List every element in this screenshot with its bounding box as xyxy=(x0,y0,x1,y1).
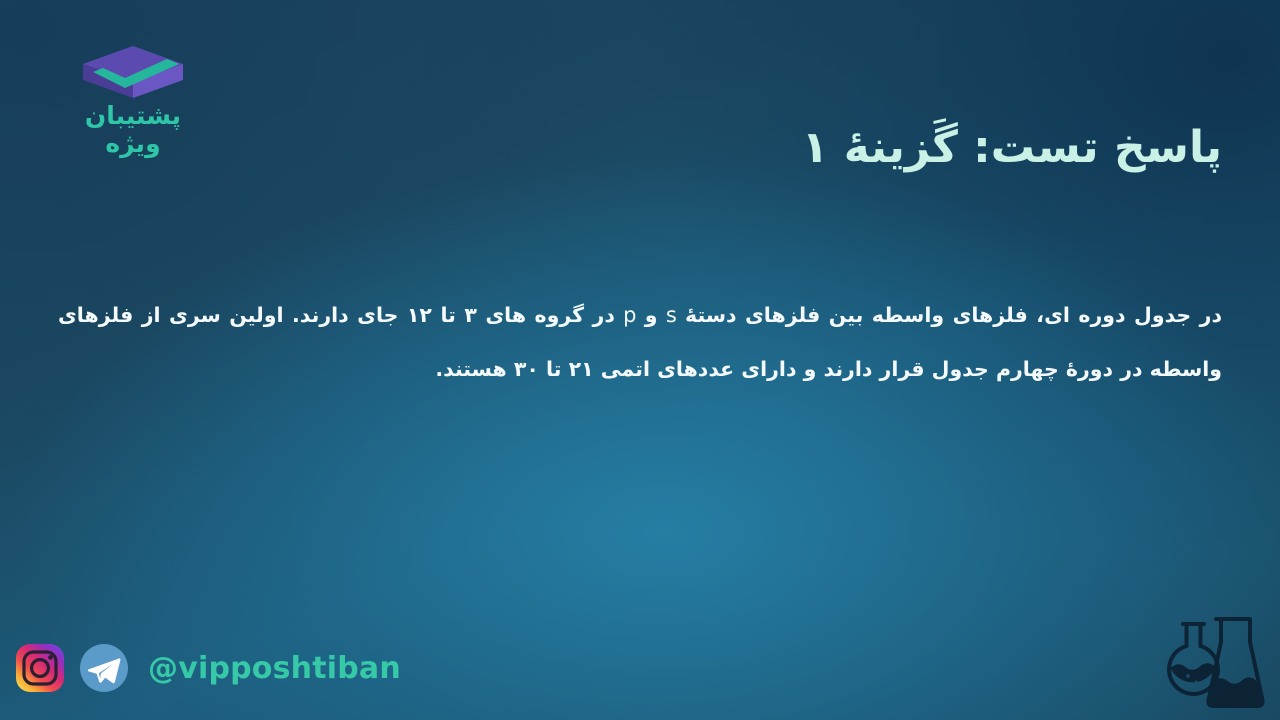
instagram-icon[interactable] xyxy=(14,642,66,694)
slide-canvas: پشتیبان ویژه پاسخ تست: گَزینهٔ ۱ در جدول… xyxy=(0,0,1280,720)
chemistry-flasks-icon xyxy=(1158,610,1266,714)
social-handle[interactable]: @vipposhtiban xyxy=(148,651,401,686)
telegram-icon[interactable] xyxy=(78,642,130,694)
body-segment: و xyxy=(636,303,666,327)
social-bar: @vipposhtiban xyxy=(14,642,401,694)
body-segment-latin-s: s xyxy=(666,303,677,327)
answer-explanation: در جدول دوره ای، فلزهای واسطه بین فلزهای… xyxy=(58,288,1222,396)
body-segment-latin-p: p xyxy=(623,303,636,327)
graduation-cap-check-icon xyxy=(79,42,187,100)
body-segment: در جدول دوره ای، فلزهای واسطه بین فلزهای… xyxy=(677,303,1222,327)
brand-logo: پشتیبان ویژه xyxy=(58,42,208,157)
brand-name: پشتیبان ویژه xyxy=(58,102,208,157)
page-title: پاسخ تست: گَزینهٔ ۱ xyxy=(802,118,1222,177)
